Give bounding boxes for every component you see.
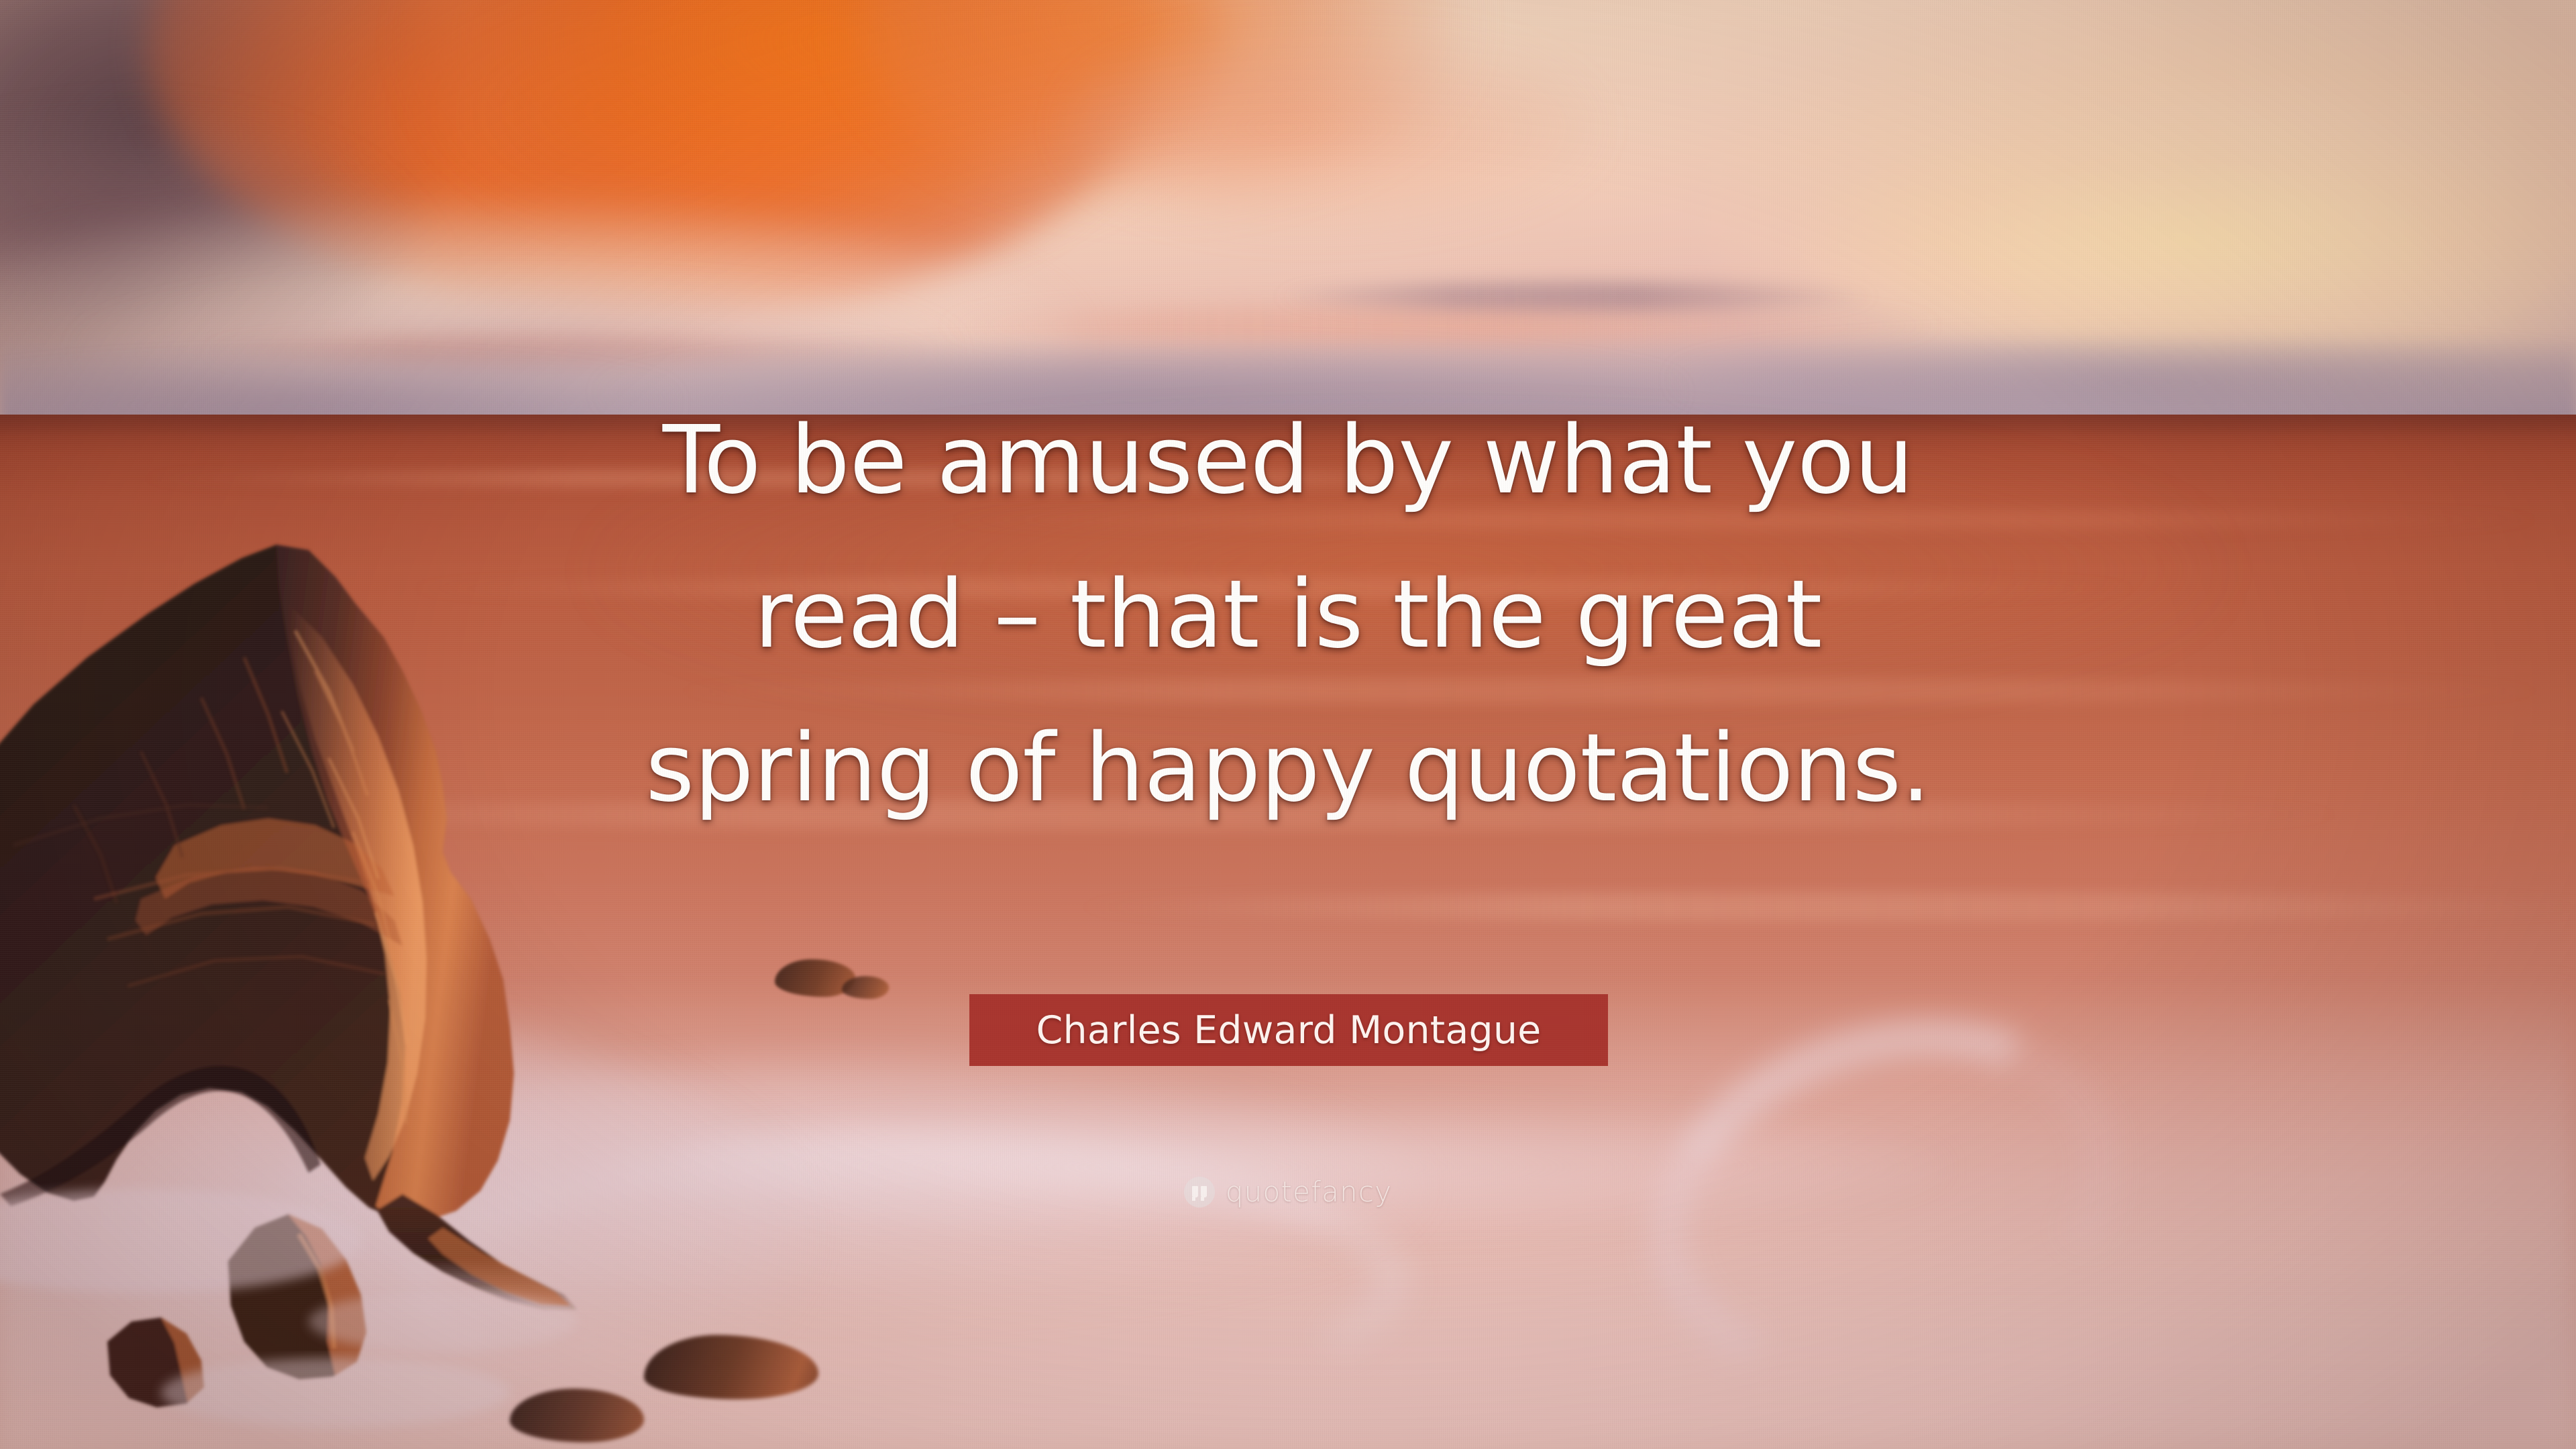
- small-rock-right-2: [842, 976, 889, 999]
- quote-text-block: To be amused by what you read – that is …: [0, 384, 2576, 846]
- author-name: Charles Edward Montague: [1036, 1008, 1542, 1053]
- foam-swirl-lower: [671, 1100, 1945, 1234]
- quote-line-3: spring of happy quotations.: [241, 692, 2334, 846]
- quote-line-1: To be amused by what you: [241, 384, 2334, 538]
- quotefancy-brand-label: quotefancy: [1226, 1175, 1392, 1208]
- author-badge: Charles Edward Montague: [969, 994, 1608, 1066]
- quotefancy-watermark[interactable]: quotefancy: [0, 1175, 2576, 1208]
- quote-line-2: read – that is the great: [241, 538, 2334, 692]
- quote-poster: To be amused by what you read – that is …: [0, 0, 2576, 1449]
- cloud-streak-upper-right: [1275, 282, 1878, 311]
- double-quote-icon: [1184, 1177, 1215, 1207]
- orange-cloud-tail: [1073, 27, 1597, 228]
- sea-streak-6: [1073, 892, 2576, 922]
